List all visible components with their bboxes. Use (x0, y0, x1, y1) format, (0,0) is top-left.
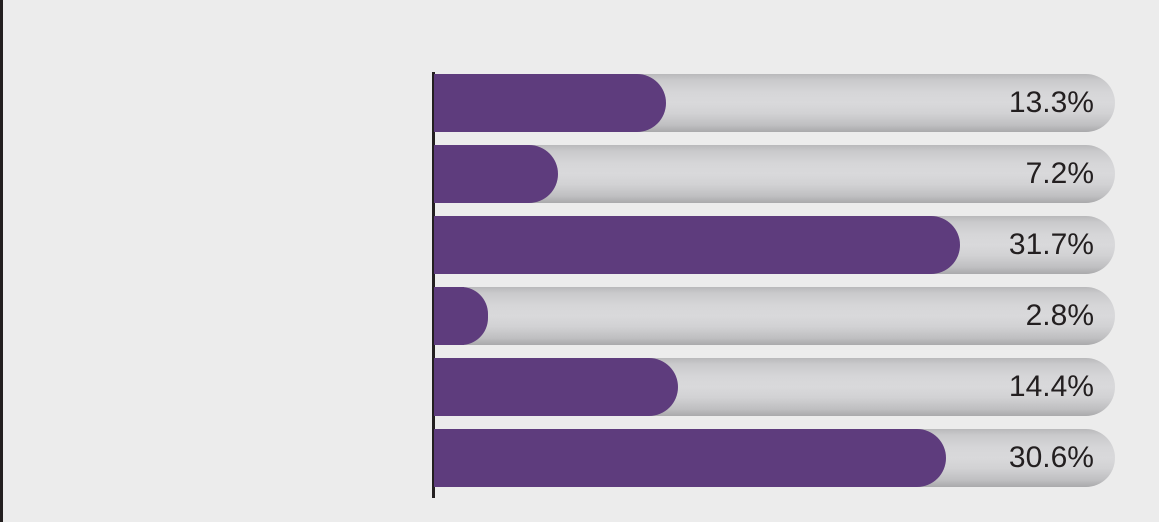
bar-chart-canvas: Expect to retire later 13.3% Expect to r… (0, 0, 1159, 522)
plot-area: Expect to retire later 13.3% Expect to r… (3, 0, 1159, 522)
value-label: 30.6% (434, 429, 1094, 487)
value-label: 31.7% (434, 216, 1094, 274)
value-label: 13.3% (434, 74, 1094, 132)
value-label: 14.4% (434, 358, 1094, 416)
value-label: 2.8% (434, 287, 1094, 345)
value-label: 7.2% (434, 145, 1094, 203)
